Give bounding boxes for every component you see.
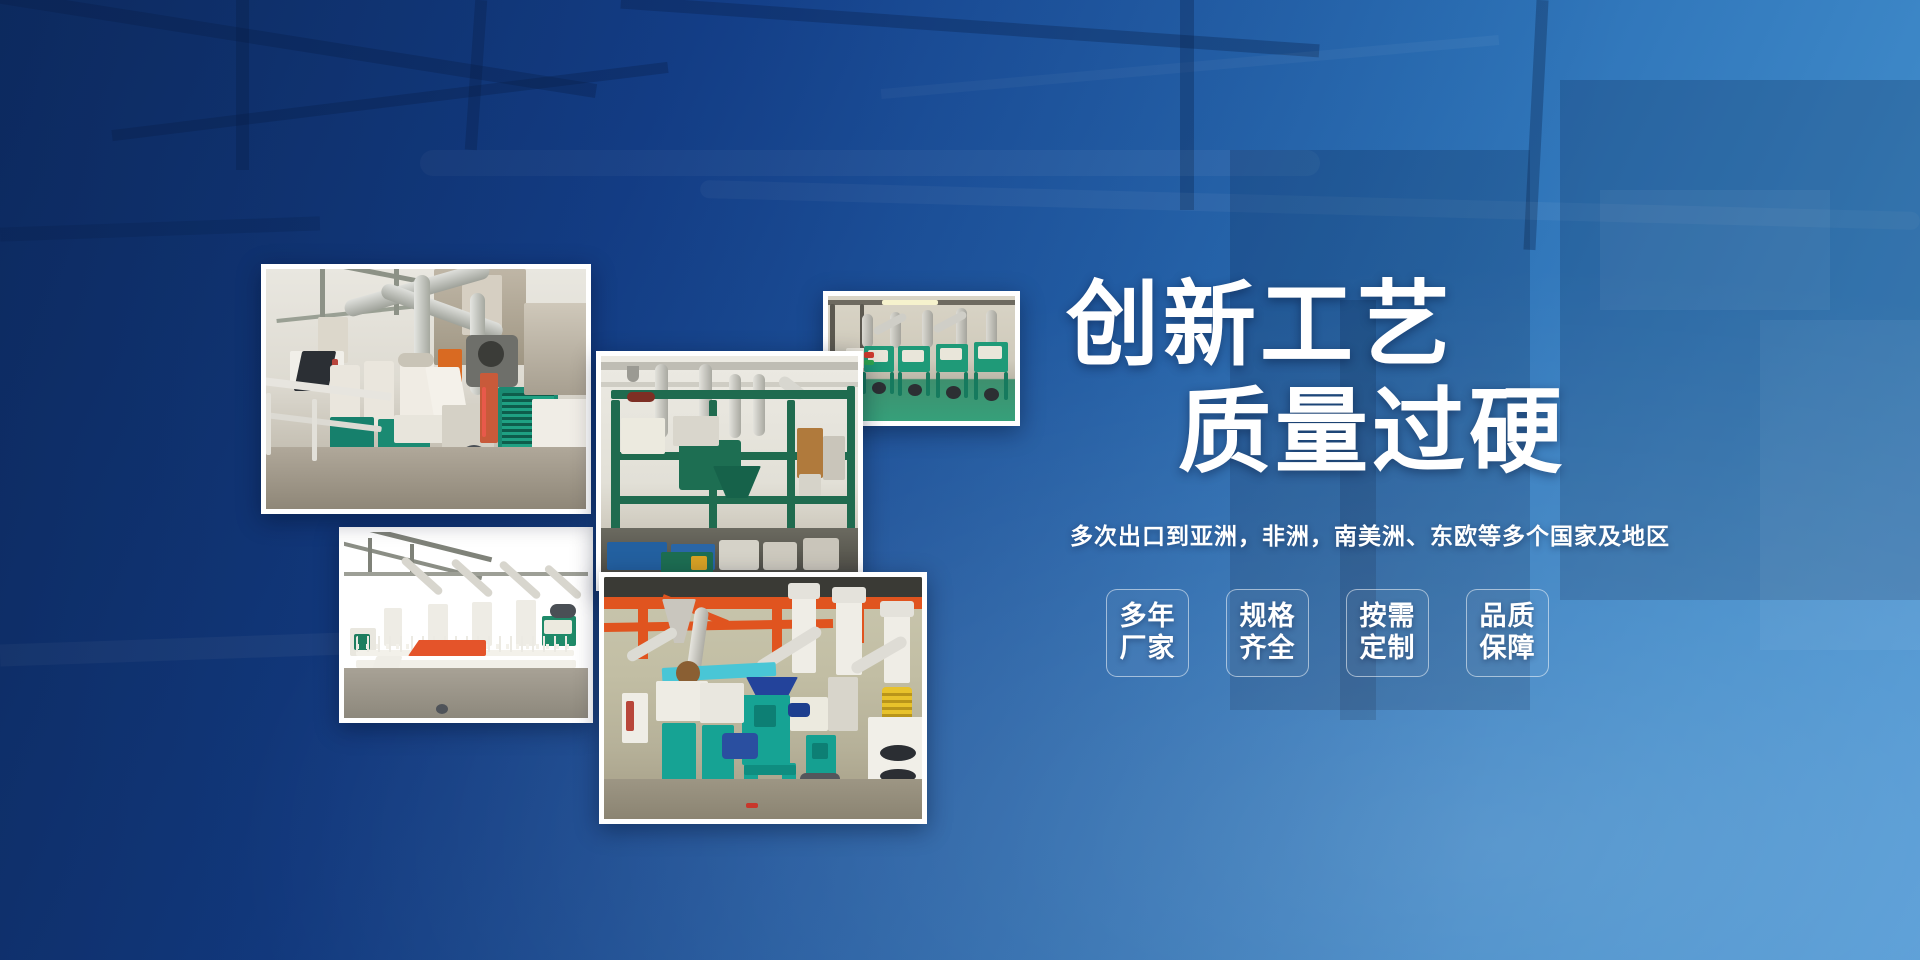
banner-copy: 创新工艺 质量过硬 多次出口到亚洲，非洲，南美洲、东欧等多个国家及地区 多年 厂…: [1060, 276, 1660, 677]
badge-label-top: 按需: [1360, 601, 1416, 633]
badge-label-bottom: 保障: [1480, 633, 1536, 665]
collage-photo-teal-machines-orange-truss-hall: [599, 572, 927, 824]
page-title: 创新工艺 质量过硬: [1060, 276, 1660, 481]
feature-badge-list: 多年 厂家 规格 齐全 按需 定制 品质 保障: [1106, 589, 1660, 677]
hero-banner: 创新工艺 质量过硬 多次出口到亚洲，非洲，南美洲、东欧等多个国家及地区 多年 厂…: [0, 0, 1920, 960]
feature-badge-years-manufacturer[interactable]: 多年 厂家: [1106, 589, 1189, 677]
banner-subtitle: 多次出口到亚洲，非洲，南美洲、东欧等多个国家及地区: [1070, 517, 1660, 551]
headline-line-2: 质量过硬: [1178, 383, 1660, 482]
photo-collage: [0, 0, 1000, 960]
badge-label-bottom: 定制: [1360, 633, 1416, 665]
collage-photo-white-elevator-line-orange-conveyor: [339, 527, 593, 723]
headline-line-1: 创新工艺: [1066, 276, 1660, 375]
badge-label-top: 规格: [1240, 601, 1296, 633]
badge-label-bottom: 厂家: [1120, 633, 1176, 665]
badge-label-bottom: 齐全: [1240, 633, 1296, 665]
feature-badge-quality-assurance[interactable]: 品质 保障: [1466, 589, 1549, 677]
badge-label-top: 品质: [1480, 601, 1536, 633]
collage-photo-green-flour-mill-tower: [596, 351, 863, 591]
feature-badge-custom-made[interactable]: 按需 定制: [1346, 589, 1429, 677]
collage-photo-grey-pipework-milling-line: [261, 264, 591, 514]
badge-label-top: 多年: [1120, 601, 1176, 633]
feature-badge-full-specs[interactable]: 规格 齐全: [1226, 589, 1309, 677]
